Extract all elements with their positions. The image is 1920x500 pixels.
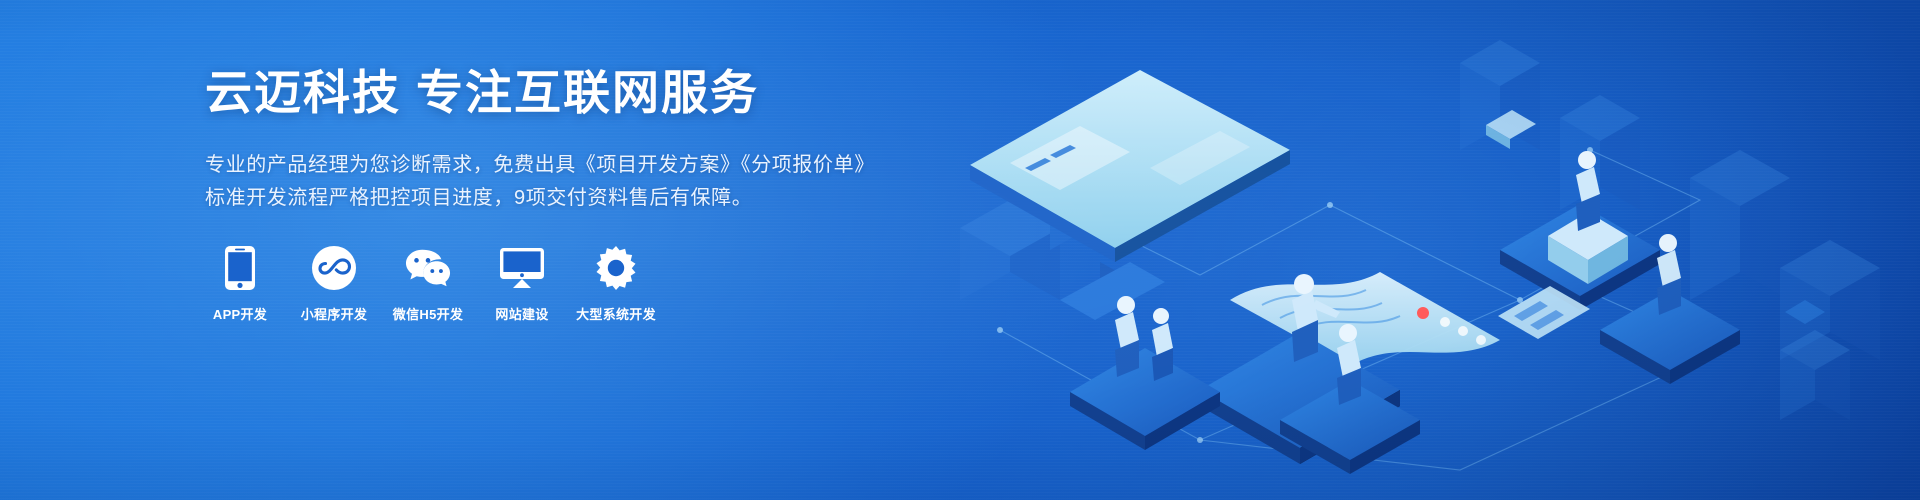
gear-icon — [593, 245, 639, 291]
service-label: 网站建设 — [495, 304, 548, 323]
mini-program-icon — [311, 245, 357, 291]
hero-subheading: 专业的产品经理为您诊断需求，免费出具《项目开发方案》《分项报价单》 标准开发流程… — [205, 149, 925, 215]
service-label: 大型系统开发 — [576, 304, 656, 323]
service-item-large-system[interactable]: 大型系统开发 — [581, 245, 651, 323]
service-item-miniprogram[interactable]: 小程序开发 — [299, 245, 369, 323]
hero-banner: 云迈科技 专注互联网服务 专业的产品经理为您诊断需求，免费出具《项目开发方案》《… — [0, 0, 1920, 500]
service-label: 小程序开发 — [301, 304, 368, 323]
service-item-wechat-h5[interactable]: 微信H5开发 — [393, 245, 463, 323]
service-label: APP开发 — [213, 304, 267, 323]
isometric-illustration — [900, 0, 1920, 500]
hero-content: 云迈科技 专注互联网服务 专业的产品经理为您诊断需求，免费出具《项目开发方案》《… — [205, 64, 925, 323]
service-list: APP开发 小程序开发 — [205, 245, 925, 323]
monitor-icon — [499, 245, 545, 291]
service-label: 微信H5开发 — [393, 304, 463, 323]
page-title: 云迈科技 专注互联网服务 — [205, 64, 925, 123]
mobile-phone-icon — [217, 245, 263, 291]
service-item-website[interactable]: 网站建设 — [487, 245, 557, 323]
subheading-line-2: 标准开发流程严格把控项目进度，9项交付资料售后有保障。 — [205, 182, 925, 215]
subheading-line-1: 专业的产品经理为您诊断需求，免费出具《项目开发方案》《分项报价单》 — [205, 149, 925, 182]
wechat-icon — [405, 245, 451, 291]
service-item-app[interactable]: APP开发 — [205, 245, 275, 323]
